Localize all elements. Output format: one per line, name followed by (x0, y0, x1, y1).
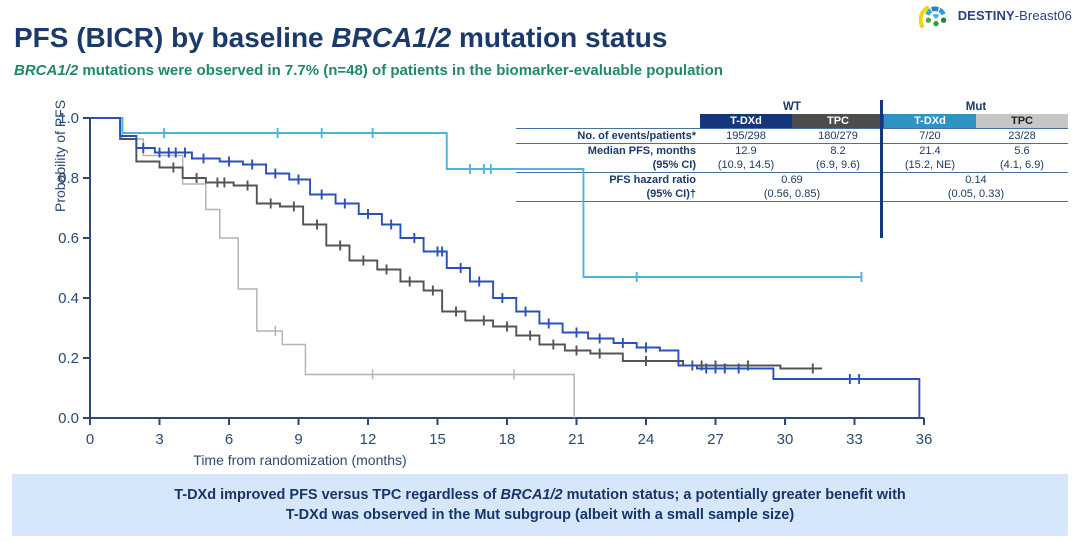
y-axis-title: Probability of PFS (52, 100, 68, 212)
x-tick-label: 33 (846, 431, 863, 448)
x-tick-label: 12 (360, 431, 377, 448)
banner-1-post: mutation status; a potentially greater b… (563, 487, 906, 503)
title-gene: BRCA1/2 (331, 22, 451, 53)
events-mut-tpc: 23/28 (976, 129, 1068, 144)
title-prefix: PFS (BICR) by baseline (14, 22, 331, 53)
arm-header-mut-tpc: TPC (976, 114, 1068, 129)
km-curve-wt-t-dxd (90, 118, 919, 418)
km-curve-wt-tpc (90, 118, 822, 369)
y-tick-label: 0.4 (58, 290, 79, 307)
x-axis-title-text: Time from randomization (months) (193, 452, 406, 468)
x-tick-label: 30 (777, 431, 794, 448)
x-tick-label: 0 (86, 431, 94, 448)
destiny-fan-icon (919, 2, 953, 28)
median-mut-tpc: 5.6 (976, 144, 1068, 159)
x-tick-label: 9 (294, 431, 302, 448)
x-axis-title: Time from randomization (months) (0, 452, 1080, 468)
km-curve-mut-tpc (90, 118, 574, 418)
logo-suffix: -Breast06 (1015, 8, 1072, 23)
banner-1-pre: T-DXd improved PFS versus TPC regardless… (174, 487, 500, 503)
x-tick-label: 27 (707, 431, 724, 448)
title-suffix: mutation status (451, 22, 667, 53)
x-tick-label: 15 (429, 431, 446, 448)
y-tick-label: 0.2 (58, 350, 79, 367)
page-title: PFS (BICR) by baseline BRCA1/2 mutation … (14, 22, 667, 54)
kaplan-meier-plot: 0.00.20.40.60.81.00369121518212427303336 (54, 110, 954, 460)
subtitle-text: mutations were observed in 7.7% (n=48) o… (78, 62, 723, 79)
page-subtitle: BRCA1/2 mutations were observed in 7.7% … (14, 62, 723, 79)
subtitle-gene: BRCA1/2 (14, 62, 78, 79)
x-tick-label: 6 (225, 431, 233, 448)
logo-label: DESTINY-Breast06 (958, 8, 1072, 23)
y-tick-label: 0.0 (58, 410, 79, 427)
x-tick-label: 24 (638, 431, 655, 448)
summary-banner: T-DXd improved PFS versus TPC regardless… (12, 474, 1068, 536)
x-tick-label: 3 (155, 431, 163, 448)
logo-name: DESTINY (958, 8, 1015, 23)
banner-line-1: T-DXd improved PFS versus TPC regardless… (174, 487, 906, 503)
destiny-breast06-logo: DESTINY-Breast06 (919, 2, 1072, 28)
banner-line-2: T-DXd was observed in the Mut subgroup (… (286, 507, 794, 523)
slide-root: DESTINY-Breast06 PFS (BICR) by baseline … (0, 0, 1080, 542)
banner-1-gene: BRCA1/2 (501, 487, 563, 503)
y-tick-label: 0.6 (58, 230, 79, 247)
median-ci-mut-tpc: (4.1, 6.9) (976, 158, 1068, 173)
x-tick-label: 18 (499, 431, 516, 448)
x-tick-label: 36 (916, 431, 933, 448)
x-tick-label: 21 (568, 431, 585, 448)
